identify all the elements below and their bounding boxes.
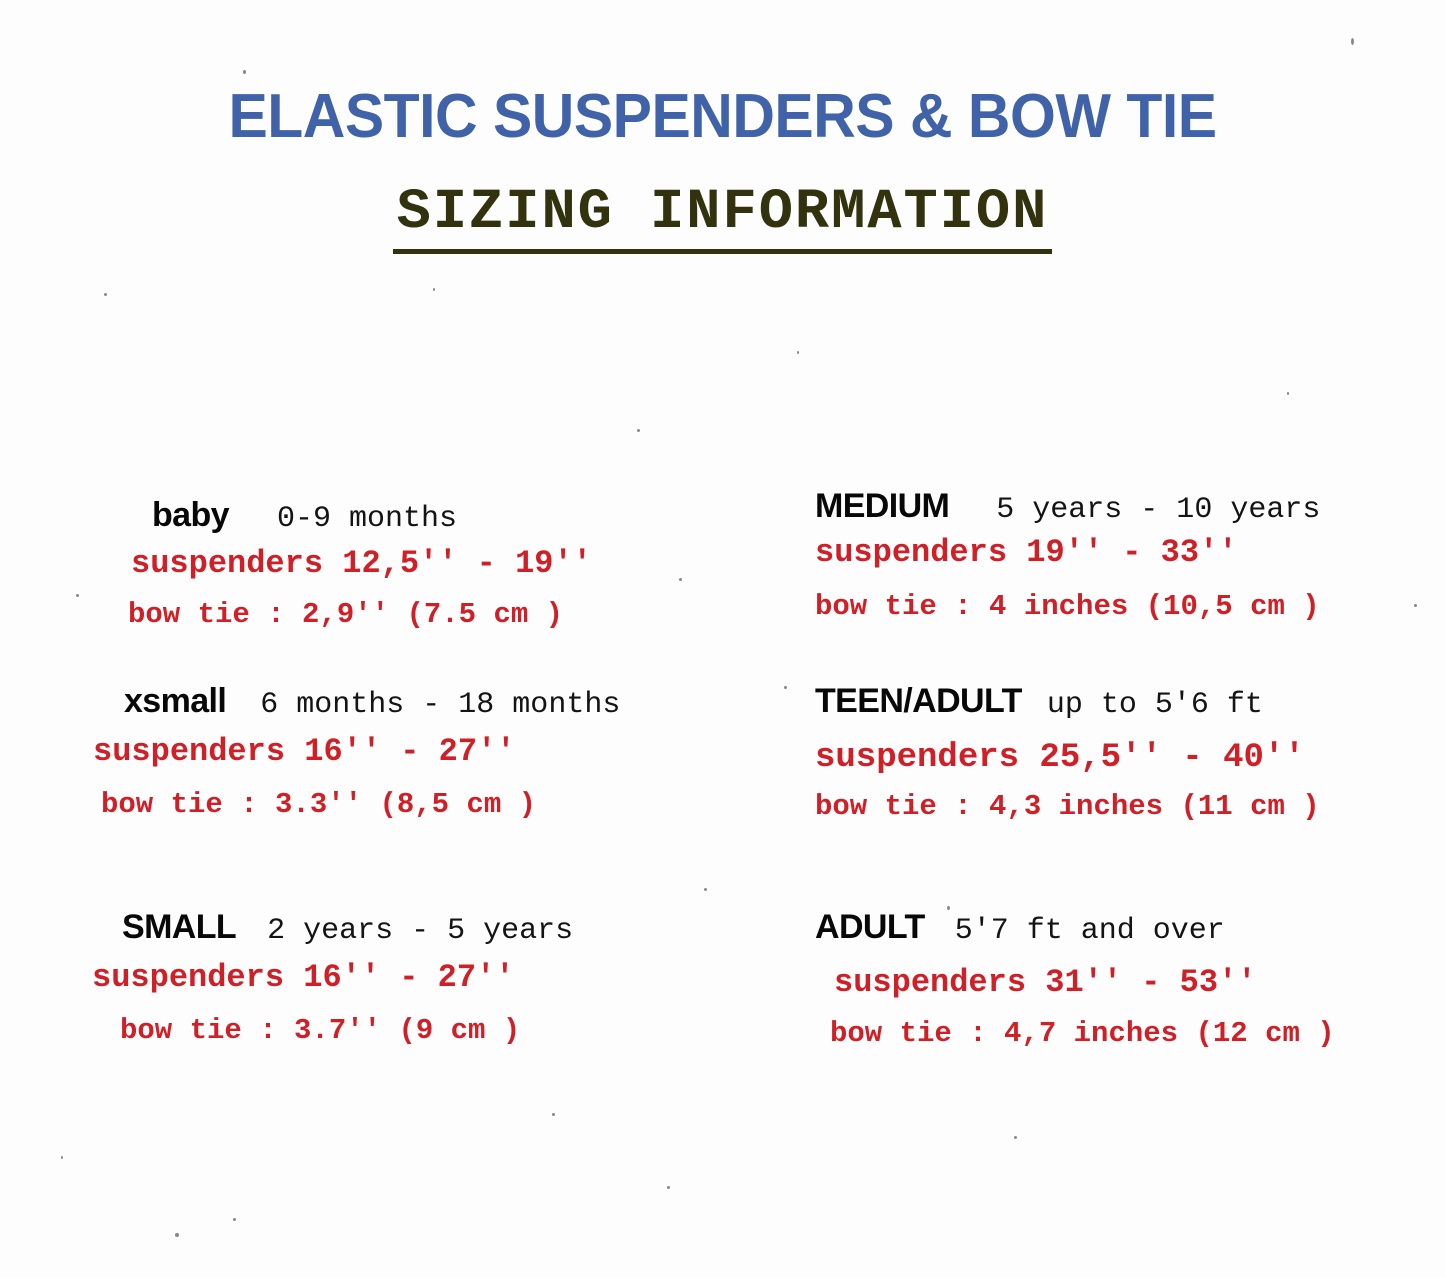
size-block-xsmall: xsmall 6 months - 18 months suspenders 1…	[0, 682, 700, 821]
size-age-range: 5 years - 10 years	[996, 493, 1320, 527]
size-name-label: ADULT	[815, 908, 925, 947]
bow-tie-measurement: bow tie : 3.3'' (8,5 cm )	[0, 788, 700, 821]
size-block-teen-adult: TEEN/ADULT up to 5'6 ft suspenders 25,5'…	[722, 682, 1422, 823]
size-block-baby: baby 0-9 months suspenders 12,5'' - 19''…	[0, 496, 700, 631]
size-header-row: xsmall 6 months - 18 months	[0, 682, 700, 722]
size-name-label: baby	[152, 496, 229, 535]
suspenders-measurement: suspenders 12,5'' - 19''	[0, 545, 700, 582]
size-age-range: 2 years - 5 years	[267, 914, 573, 948]
size-header-row: TEEN/ADULT up to 5'6 ft	[722, 682, 1422, 722]
suspenders-measurement: suspenders 19'' - 33''	[722, 534, 1422, 571]
size-header-row: ADULT 5'7 ft and over	[722, 908, 1422, 948]
bow-tie-measurement: bow tie : 4,3 inches (11 cm )	[722, 790, 1422, 823]
size-column-left: baby 0-9 months suspenders 12,5'' - 19''…	[0, 0, 700, 1278]
size-name-label: MEDIUM	[815, 487, 949, 526]
size-age-range: up to 5'6 ft	[1047, 688, 1263, 722]
size-block-small: SMALL 2 years - 5 years suspenders 16'' …	[0, 908, 700, 1047]
sizing-chart-sheet: ELASTIC SUSPENDERS & BOW TIE SIZING INFO…	[0, 0, 1445, 1278]
bow-tie-measurement: bow tie : 4 inches (10,5 cm )	[722, 590, 1422, 623]
size-column-right: MEDIUM 5 years - 10 years suspenders 19'…	[722, 0, 1422, 1278]
size-block-medium: MEDIUM 5 years - 10 years suspenders 19'…	[722, 487, 1422, 623]
size-name-label: xsmall	[124, 682, 226, 721]
suspenders-measurement: suspenders 16'' - 27''	[0, 959, 700, 996]
scan-speck	[704, 888, 707, 891]
suspenders-measurement: suspenders 25,5'' - 40''	[722, 739, 1422, 777]
bow-tie-measurement: bow tie : 2,9'' (7.5 cm )	[0, 598, 700, 631]
suspenders-measurement: suspenders 16'' - 27''	[0, 733, 700, 770]
size-age-range: 5'7 ft and over	[955, 914, 1225, 948]
size-name-label: TEEN/ADULT	[815, 682, 1022, 721]
size-header-row: baby 0-9 months	[0, 496, 700, 536]
size-header-row: SMALL 2 years - 5 years	[0, 908, 700, 948]
size-block-adult: ADULT 5'7 ft and over suspenders 31'' - …	[722, 908, 1422, 1050]
size-header-row: MEDIUM 5 years - 10 years	[722, 487, 1422, 527]
suspenders-measurement: suspenders 31'' - 53''	[722, 964, 1422, 1001]
size-age-range: 0-9 months	[277, 502, 457, 536]
size-name-label: SMALL	[122, 908, 236, 947]
bow-tie-measurement: bow tie : 3.7'' (9 cm )	[0, 1014, 700, 1047]
bow-tie-measurement: bow tie : 4,7 inches (12 cm )	[722, 1017, 1422, 1050]
size-age-range: 6 months - 18 months	[260, 688, 620, 722]
